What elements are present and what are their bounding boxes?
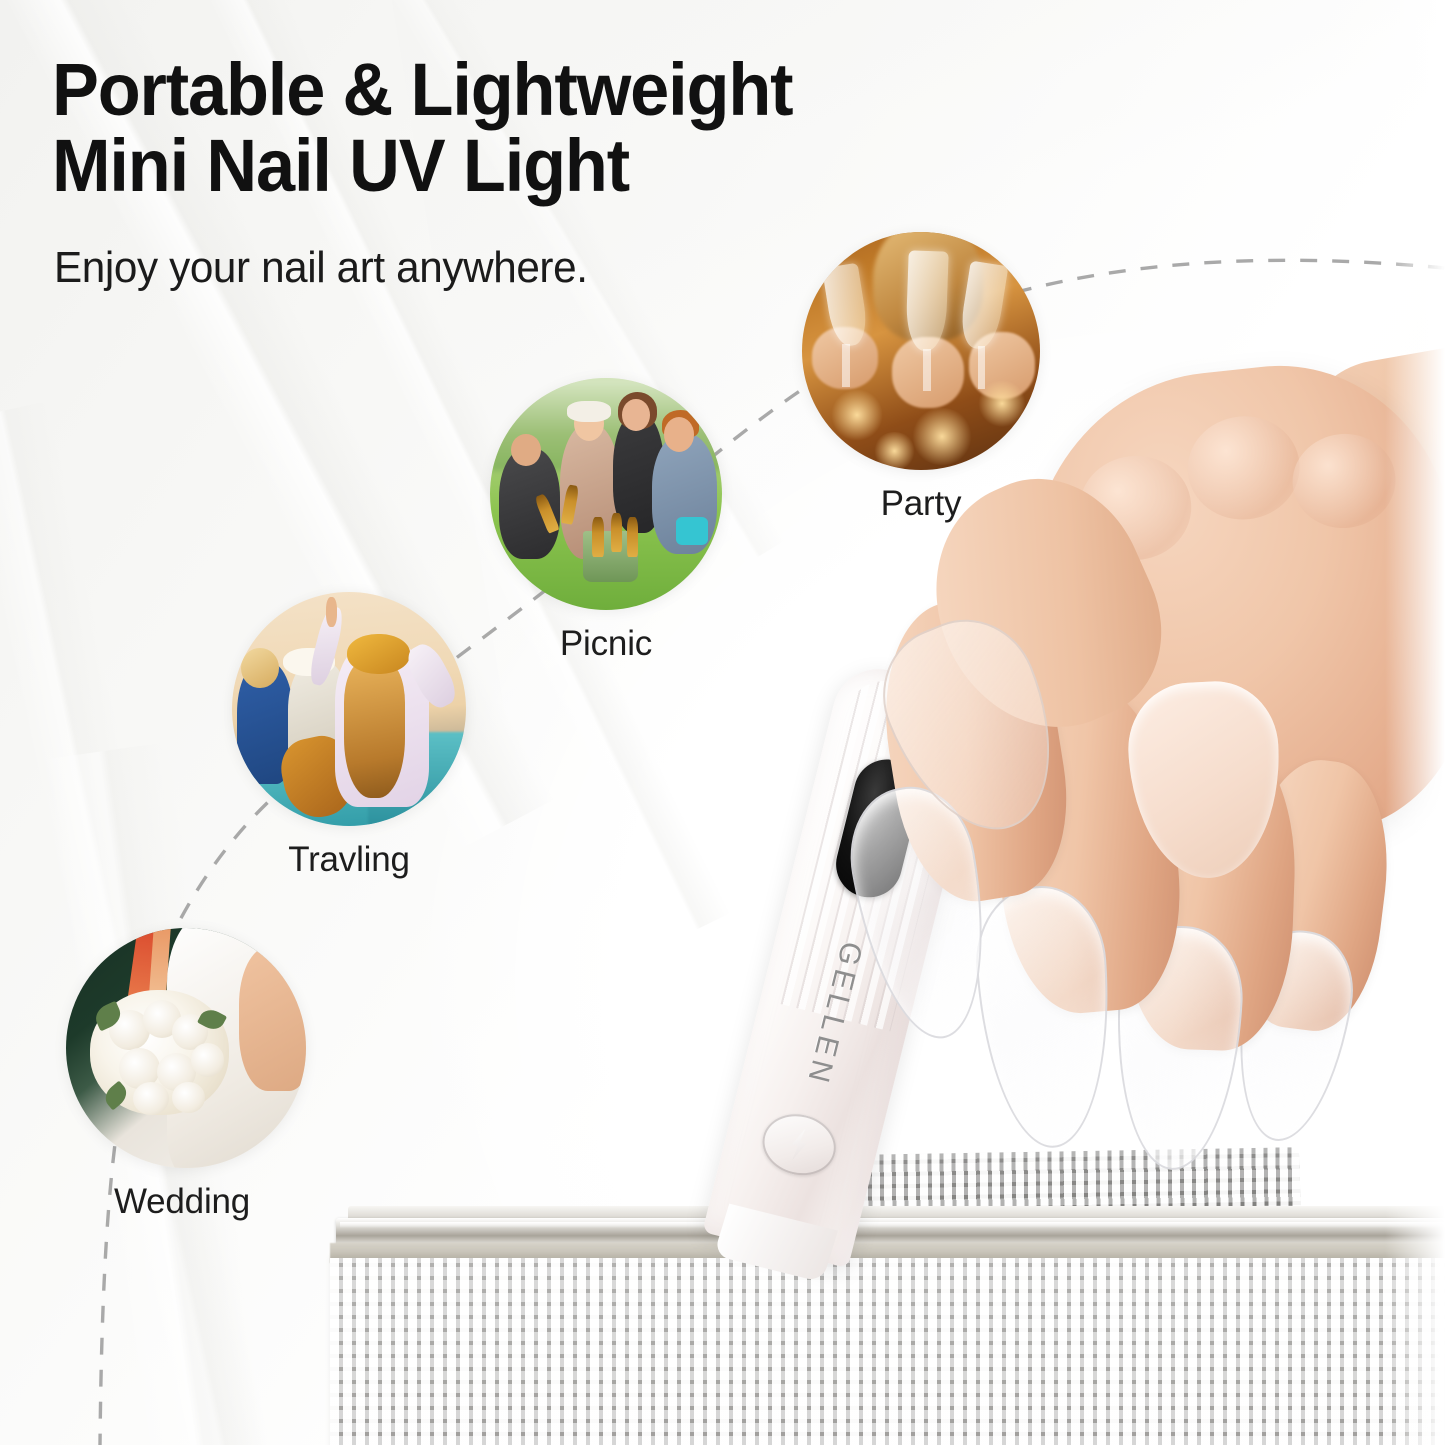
model-hand — [830, 330, 1445, 1150]
product-photo: GELLEN — [0, 0, 1445, 1445]
right-edge-fade — [1385, 0, 1445, 1445]
product-marketing-image: Portable & Lightweight Mini Nail UV Ligh… — [0, 0, 1445, 1445]
lightning-bolt-icon — [782, 1125, 815, 1164]
clutch-frame-highlight — [340, 1222, 1445, 1228]
clutch-rhinestone-body — [330, 1258, 1445, 1445]
